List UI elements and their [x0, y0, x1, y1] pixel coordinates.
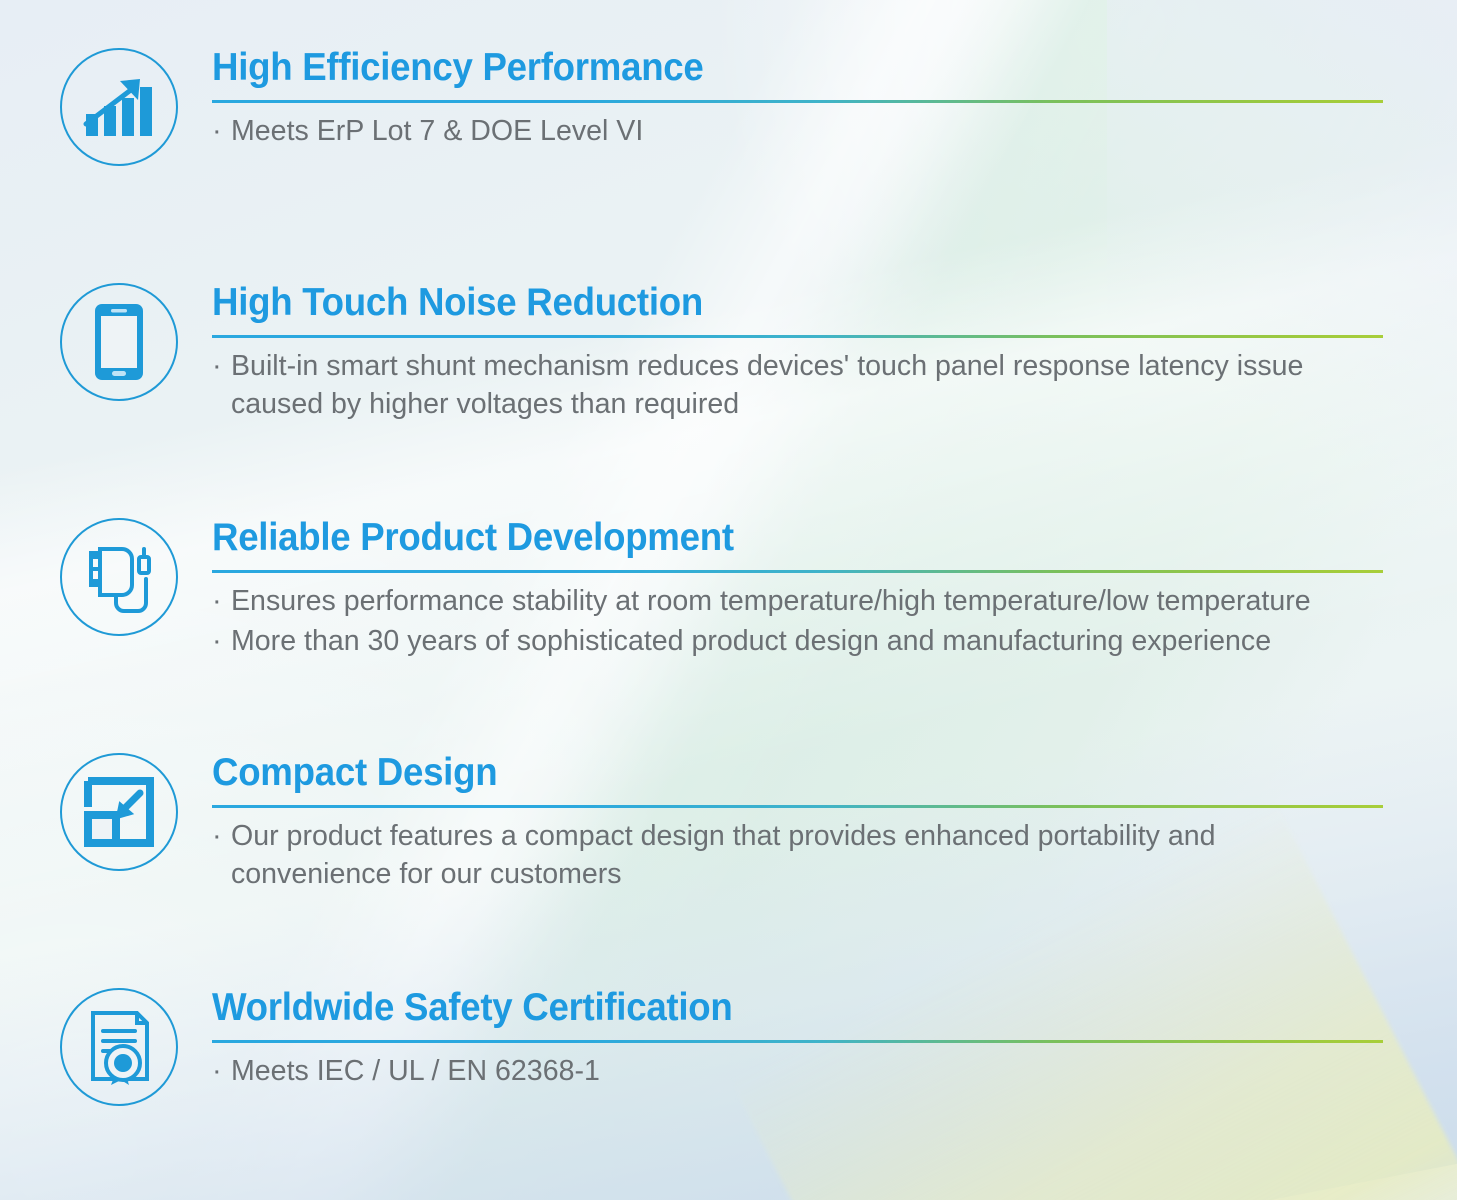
- bullet-icon: ·: [212, 347, 222, 385]
- feature-icon-wrap: [56, 988, 181, 1106]
- feature-icon-wrap: [56, 753, 181, 871]
- feature-divider: [212, 1040, 1383, 1043]
- feature-highlights-page: High Efficiency Performance · Meets ErP …: [0, 0, 1457, 1200]
- resize-shrink-icon: [60, 753, 178, 871]
- feature-item-high-efficiency-performance: High Efficiency Performance · Meets ErP …: [0, 48, 1457, 166]
- feature-icon-wrap: [56, 48, 181, 166]
- feature-item-high-touch-noise-reduction: High Touch Noise Reduction · Built-in sm…: [0, 283, 1457, 425]
- bar-chart-growth-icon: [60, 48, 178, 166]
- feature-bullet-line: · Meets ErP Lot 7 & DOE Level VI: [212, 112, 1383, 150]
- feature-divider: [212, 100, 1383, 103]
- feature-body: High Efficiency Performance · Meets ErP …: [212, 48, 1457, 152]
- feature-list: High Efficiency Performance · Meets ErP …: [0, 0, 1457, 1200]
- feature-body: Worldwide Safety Certification · Meets I…: [212, 988, 1457, 1092]
- feature-line-text: Meets IEC / UL / EN 62368-1: [231, 1052, 1366, 1090]
- feature-title: High Touch Noise Reduction: [212, 283, 1313, 324]
- bullet-icon: ·: [212, 1052, 222, 1090]
- feature-line-text: Our product features a compact design th…: [231, 817, 1366, 894]
- feature-icon-wrap: [56, 283, 181, 401]
- feature-title: Reliable Product Development: [212, 518, 1313, 559]
- feature-body: Reliable Product Development · Ensures p…: [212, 518, 1457, 662]
- feature-line-text: Meets ErP Lot 7 & DOE Level VI: [231, 112, 1366, 150]
- feature-line-text: More than 30 years of sophisticated prod…: [231, 622, 1366, 660]
- feature-title: Compact Design: [212, 753, 1313, 794]
- feature-title: High Efficiency Performance: [212, 48, 1313, 89]
- feature-bullet-list: · Ensures performance stability at room …: [212, 582, 1383, 661]
- feature-body: High Touch Noise Reduction · Built-in sm…: [212, 283, 1457, 425]
- feature-divider: [212, 570, 1383, 573]
- feature-line-text: Built-in smart shunt mechanism reduces d…: [231, 347, 1366, 424]
- smartphone-icon: [60, 283, 178, 401]
- feature-line-text: Ensures performance stability at room te…: [231, 582, 1366, 620]
- feature-bullet-list: · Our product features a compact design …: [212, 817, 1383, 894]
- bullet-icon: ·: [212, 622, 222, 660]
- feature-item-reliable-product-development: Reliable Product Development · Ensures p…: [0, 518, 1457, 662]
- feature-item-worldwide-safety-certification: Worldwide Safety Certification · Meets I…: [0, 988, 1457, 1106]
- feature-bullet-line: · More than 30 years of sophisticated pr…: [212, 622, 1383, 660]
- feature-divider: [212, 335, 1383, 338]
- feature-bullet-line: · Ensures performance stability at room …: [212, 582, 1383, 620]
- feature-item-compact-design: Compact Design · Our product features a …: [0, 753, 1457, 895]
- feature-bullet-line: · Our product features a compact design …: [212, 817, 1383, 894]
- bullet-icon: ·: [212, 582, 222, 620]
- feature-bullet-list: · Built-in smart shunt mechanism reduces…: [212, 347, 1383, 424]
- bullet-icon: ·: [212, 817, 222, 855]
- bullet-icon: ·: [212, 112, 222, 150]
- feature-body: Compact Design · Our product features a …: [212, 753, 1457, 895]
- feature-bullet-list: · Meets IEC / UL / EN 62368-1: [212, 1052, 1383, 1090]
- feature-bullet-list: · Meets ErP Lot 7 & DOE Level VI: [212, 112, 1383, 150]
- feature-title: Worldwide Safety Certification: [212, 988, 1313, 1029]
- power-adapter-icon: [60, 518, 178, 636]
- feature-bullet-line: · Meets IEC / UL / EN 62368-1: [212, 1052, 1383, 1090]
- feature-divider: [212, 805, 1383, 808]
- feature-icon-wrap: [56, 518, 181, 636]
- certificate-award-icon: [60, 988, 178, 1106]
- feature-bullet-line: · Built-in smart shunt mechanism reduces…: [212, 347, 1383, 424]
